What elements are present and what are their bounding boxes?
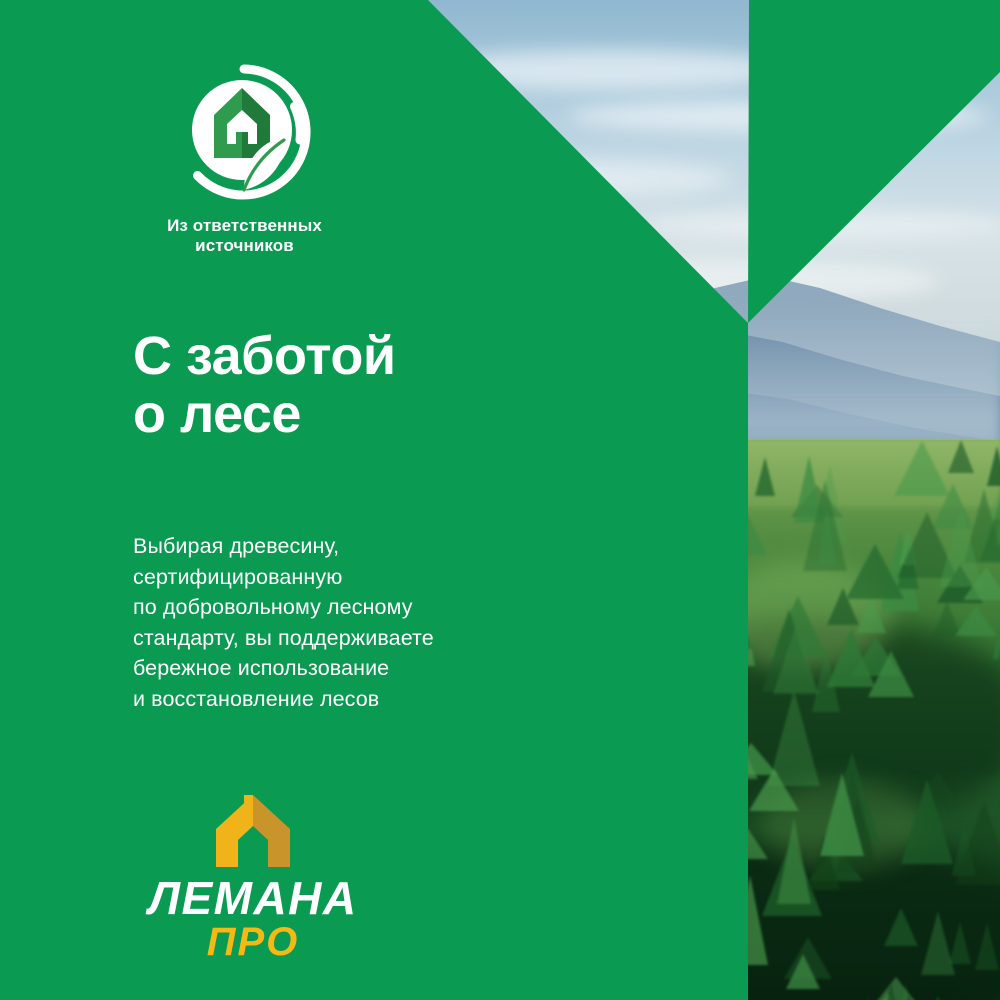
poster-root: Из ответственных источников С заботой о … xyxy=(0,0,1000,1000)
brand-subname: ПРО xyxy=(133,921,373,963)
content-column: Из ответственных источников С заботой о … xyxy=(0,0,748,1000)
eco-badge-caption: Из ответственных источников xyxy=(132,216,357,256)
body-paragraph: Выбирая древесину, сертифицированную по … xyxy=(133,531,434,714)
house-leaf-circle-eco-mark xyxy=(174,62,314,202)
brand-name: ЛЕМАНА xyxy=(133,875,373,921)
eco-badge: Из ответственных источников xyxy=(128,62,398,256)
page-title: С заботой о лесе xyxy=(133,327,396,444)
lemana-house-icon xyxy=(200,793,306,869)
brand-lockup: ЛЕМАНА ПРО xyxy=(133,793,373,963)
